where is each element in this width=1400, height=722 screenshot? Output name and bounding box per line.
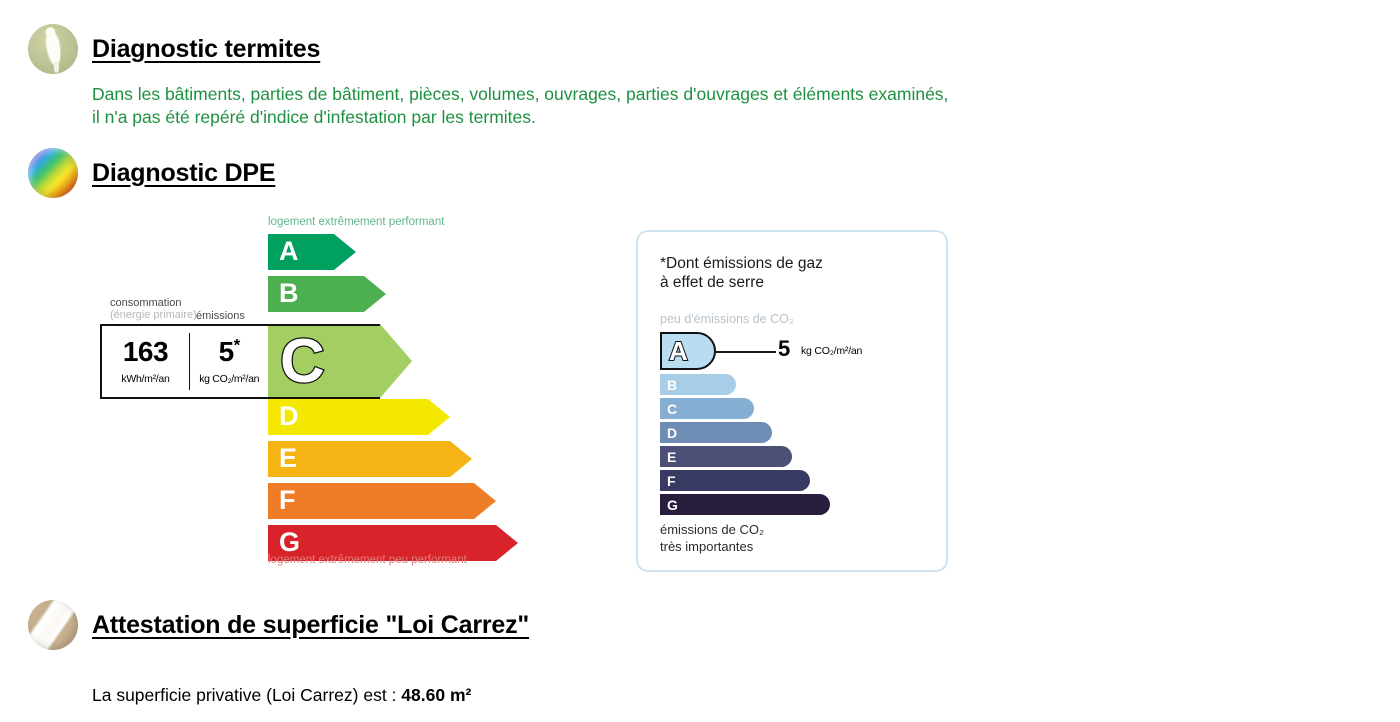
- dpe-rainbow-icon: [28, 148, 78, 198]
- termite-glyph: [44, 31, 62, 66]
- section-diagnostic-termites: Diagnostic termites Dans les bâtiments, …: [28, 24, 1378, 130]
- ges-bar-label-b: B: [667, 378, 677, 392]
- label-consommation: consommation (énergie primaire): [110, 297, 197, 321]
- ges-caption-top: peu d'émissions de CO₂: [660, 312, 794, 326]
- bar-tip: [474, 483, 496, 519]
- energy-bar-label-a: A: [279, 238, 299, 265]
- emissions-value: 5*: [219, 338, 240, 366]
- energy-caption-top: logement extrêmement performant: [268, 216, 444, 228]
- emissions-unit: kg CO₂/m²/an: [199, 373, 259, 385]
- ges-bar-label-g: G: [667, 498, 678, 512]
- energy-bar-label-g: G: [279, 529, 300, 556]
- emissions-value-cell: 5* kg CO₂/m²/an: [190, 326, 268, 397]
- bar-body: [660, 470, 810, 491]
- termites-title: Diagnostic termites: [92, 35, 320, 64]
- carrez-body-prefix: La superficie privative (Loi Carrez) est…: [92, 685, 401, 705]
- energy-value-box: 163 kWh/m²/an 5* kg CO₂/m²/an: [100, 324, 268, 399]
- bar-body: [660, 446, 792, 467]
- arrow-tip: [380, 324, 412, 398]
- carrez-header: Attestation de superficie "Loi Carrez": [28, 600, 1378, 650]
- ruler-icon: [28, 600, 78, 650]
- ges-bar-label-c: C: [667, 402, 677, 416]
- bar-tip: [428, 399, 450, 435]
- ges-value: 5: [778, 338, 790, 360]
- termite-icon: [28, 24, 78, 74]
- emissions-asterisk: *: [234, 336, 240, 355]
- bar-tip: [334, 234, 356, 270]
- dpe-title: Diagnostic DPE: [92, 159, 275, 188]
- label-consommation-sub: (énergie primaire): [110, 309, 197, 321]
- carrez-surface-value: 48.60 m²: [401, 685, 471, 705]
- energy-consumption-scale: logement extrêmement performant A B D: [100, 212, 570, 582]
- energy-rating-row-c: consommation (énergie primaire) émission…: [100, 324, 570, 399]
- label-emissions: émissions: [196, 310, 245, 322]
- bar-body: [268, 234, 334, 270]
- bar-body: [268, 483, 474, 519]
- consumption-value-cell: 163 kWh/m²/an: [102, 326, 189, 397]
- ges-unit: kg CO₂/m²/an: [801, 345, 862, 357]
- energy-bar-label-f: F: [279, 487, 296, 514]
- dpe-header: Diagnostic DPE: [28, 148, 1378, 198]
- energy-rating-letter: C: [280, 331, 325, 393]
- ges-bar-label-e: E: [667, 450, 676, 464]
- energy-value-box-labels: consommation (énergie primaire) émission…: [100, 298, 268, 324]
- bar-tip: [450, 441, 472, 477]
- energy-bar-label-b: B: [279, 280, 299, 307]
- termites-body-text: Dans les bâtiments, parties de bâtiment,…: [92, 83, 1378, 130]
- dpe-energy-label-graphic: logement extrêmement performant A B D: [100, 212, 970, 582]
- consumption-value: 163: [123, 338, 168, 366]
- energy-bar-label-e: E: [279, 445, 297, 472]
- carrez-title: Attestation de superficie "Loi Carrez": [92, 611, 529, 640]
- section-attestation-loi-carrez: Attestation de superficie "Loi Carrez" L…: [28, 600, 1378, 708]
- ges-panel-title: *Dont émissions de gaz à effet de serre: [660, 254, 823, 293]
- ges-bar-label-f: F: [667, 474, 676, 488]
- ges-panel: *Dont émissions de gaz à effet de serre …: [636, 230, 948, 572]
- energy-caption-bottom: logement extrêmement peu performant: [268, 554, 467, 566]
- section-diagnostic-dpe: Diagnostic DPE: [28, 148, 1378, 198]
- bar-tip: [496, 525, 518, 561]
- bar-tip: [364, 276, 386, 312]
- energy-bar-label-d: D: [279, 403, 299, 430]
- carrez-body: La superficie privative (Loi Carrez) est…: [92, 661, 1378, 708]
- ges-bar-label-a: A: [669, 338, 688, 364]
- ges-caption-bottom: émissions de CO₂ très importantes: [660, 522, 764, 556]
- ges-bar-label-d: D: [667, 426, 677, 440]
- consumption-unit: kWh/m²/an: [121, 373, 169, 385]
- termites-header: Diagnostic termites: [28, 24, 1378, 74]
- ges-leader-line: [714, 351, 776, 353]
- bar-body: [660, 494, 830, 515]
